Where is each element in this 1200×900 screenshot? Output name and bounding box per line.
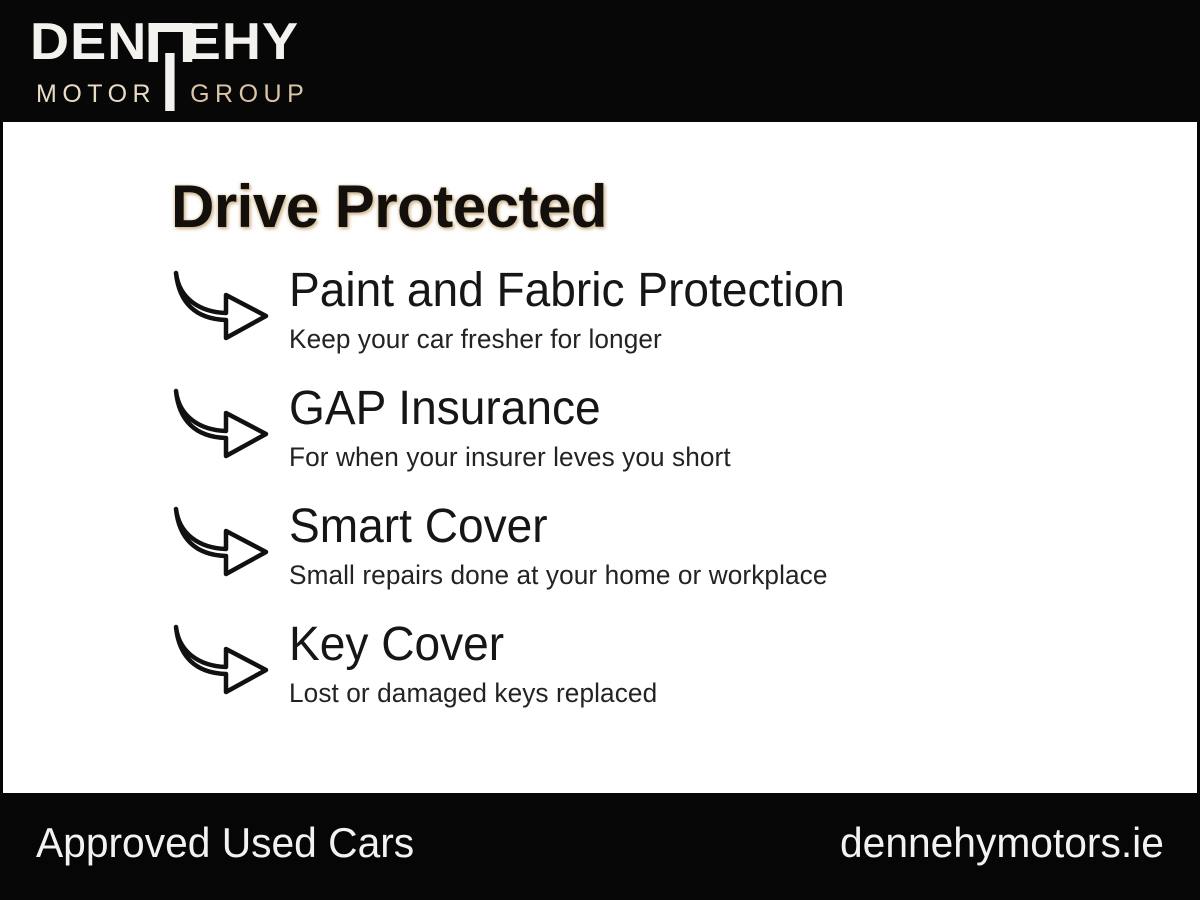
- brand-header-bar: DENEHY MOTORGROUP: [0, 0, 1200, 122]
- feature-item: GAP Insurance For when your insurer leve…: [3, 380, 1197, 498]
- feature-text-block: GAP Insurance For when your insurer leve…: [289, 380, 1149, 474]
- logo-wordmark-segment-2: N: [107, 14, 147, 70]
- curved-arrow-right-icon: [169, 268, 273, 342]
- footer-bar: Approved Used Cars dennehymotors.ie: [0, 793, 1200, 900]
- feature-title: GAP Insurance: [289, 380, 1115, 438]
- feature-item: Smart Cover Small repairs done at your h…: [3, 498, 1197, 616]
- feature-title: Key Cover: [289, 616, 1115, 674]
- feature-title: Paint and Fabric Protection: [289, 262, 1115, 320]
- logo-wordmark-segment-3: EHY: [185, 14, 299, 70]
- curved-arrow-right-icon: [169, 504, 273, 578]
- feature-subtitle: Lost or damaged keys replaced: [289, 676, 1123, 710]
- footer-approved-used-cars-label: Approved Used Cars: [36, 817, 414, 869]
- dennehy-motor-group-logo: DENEHY MOTORGROUP: [30, 14, 330, 110]
- feature-text-block: Key Cover Lost or damaged keys replaced: [289, 616, 1149, 710]
- feature-subtitle: For when your insurer leves you short: [289, 440, 1123, 474]
- logo-subline-motor-group: MOTORGROUP: [36, 78, 326, 110]
- curved-arrow-right-icon: [169, 386, 273, 460]
- footer-website-url: dennehymotors.ie: [840, 817, 1164, 869]
- content-panel: Drive Protected Paint and Fabric Protect…: [3, 122, 1197, 793]
- drive-protected-poster: DENEHY MOTORGROUP Drive Protected Paint …: [0, 0, 1200, 900]
- feature-list: Paint and Fabric Protection Keep your ca…: [3, 262, 1197, 734]
- logo-wordmark-dennehy: DENEHY: [30, 14, 299, 70]
- feature-subtitle: Small repairs done at your home or workp…: [289, 558, 1123, 592]
- feature-text-block: Paint and Fabric Protection Keep your ca…: [289, 262, 1149, 356]
- feature-item: Paint and Fabric Protection Keep your ca…: [3, 262, 1197, 380]
- feature-subtitle: Keep your car fresher for longer: [289, 322, 1123, 356]
- logo-subline-motor: MOTOR: [36, 80, 156, 108]
- feature-text-block: Smart Cover Small repairs done at your h…: [289, 498, 1149, 592]
- logo-wordmark-segment-1: DE: [30, 14, 107, 70]
- logo-stylised-n-glyph: [148, 23, 183, 61]
- curved-arrow-right-icon: [169, 622, 273, 696]
- feature-title: Smart Cover: [289, 498, 1115, 556]
- logo-subline-group: GROUP: [190, 80, 309, 108]
- page-title: Drive Protected: [171, 172, 607, 242]
- feature-item: Key Cover Lost or damaged keys replaced: [3, 616, 1197, 734]
